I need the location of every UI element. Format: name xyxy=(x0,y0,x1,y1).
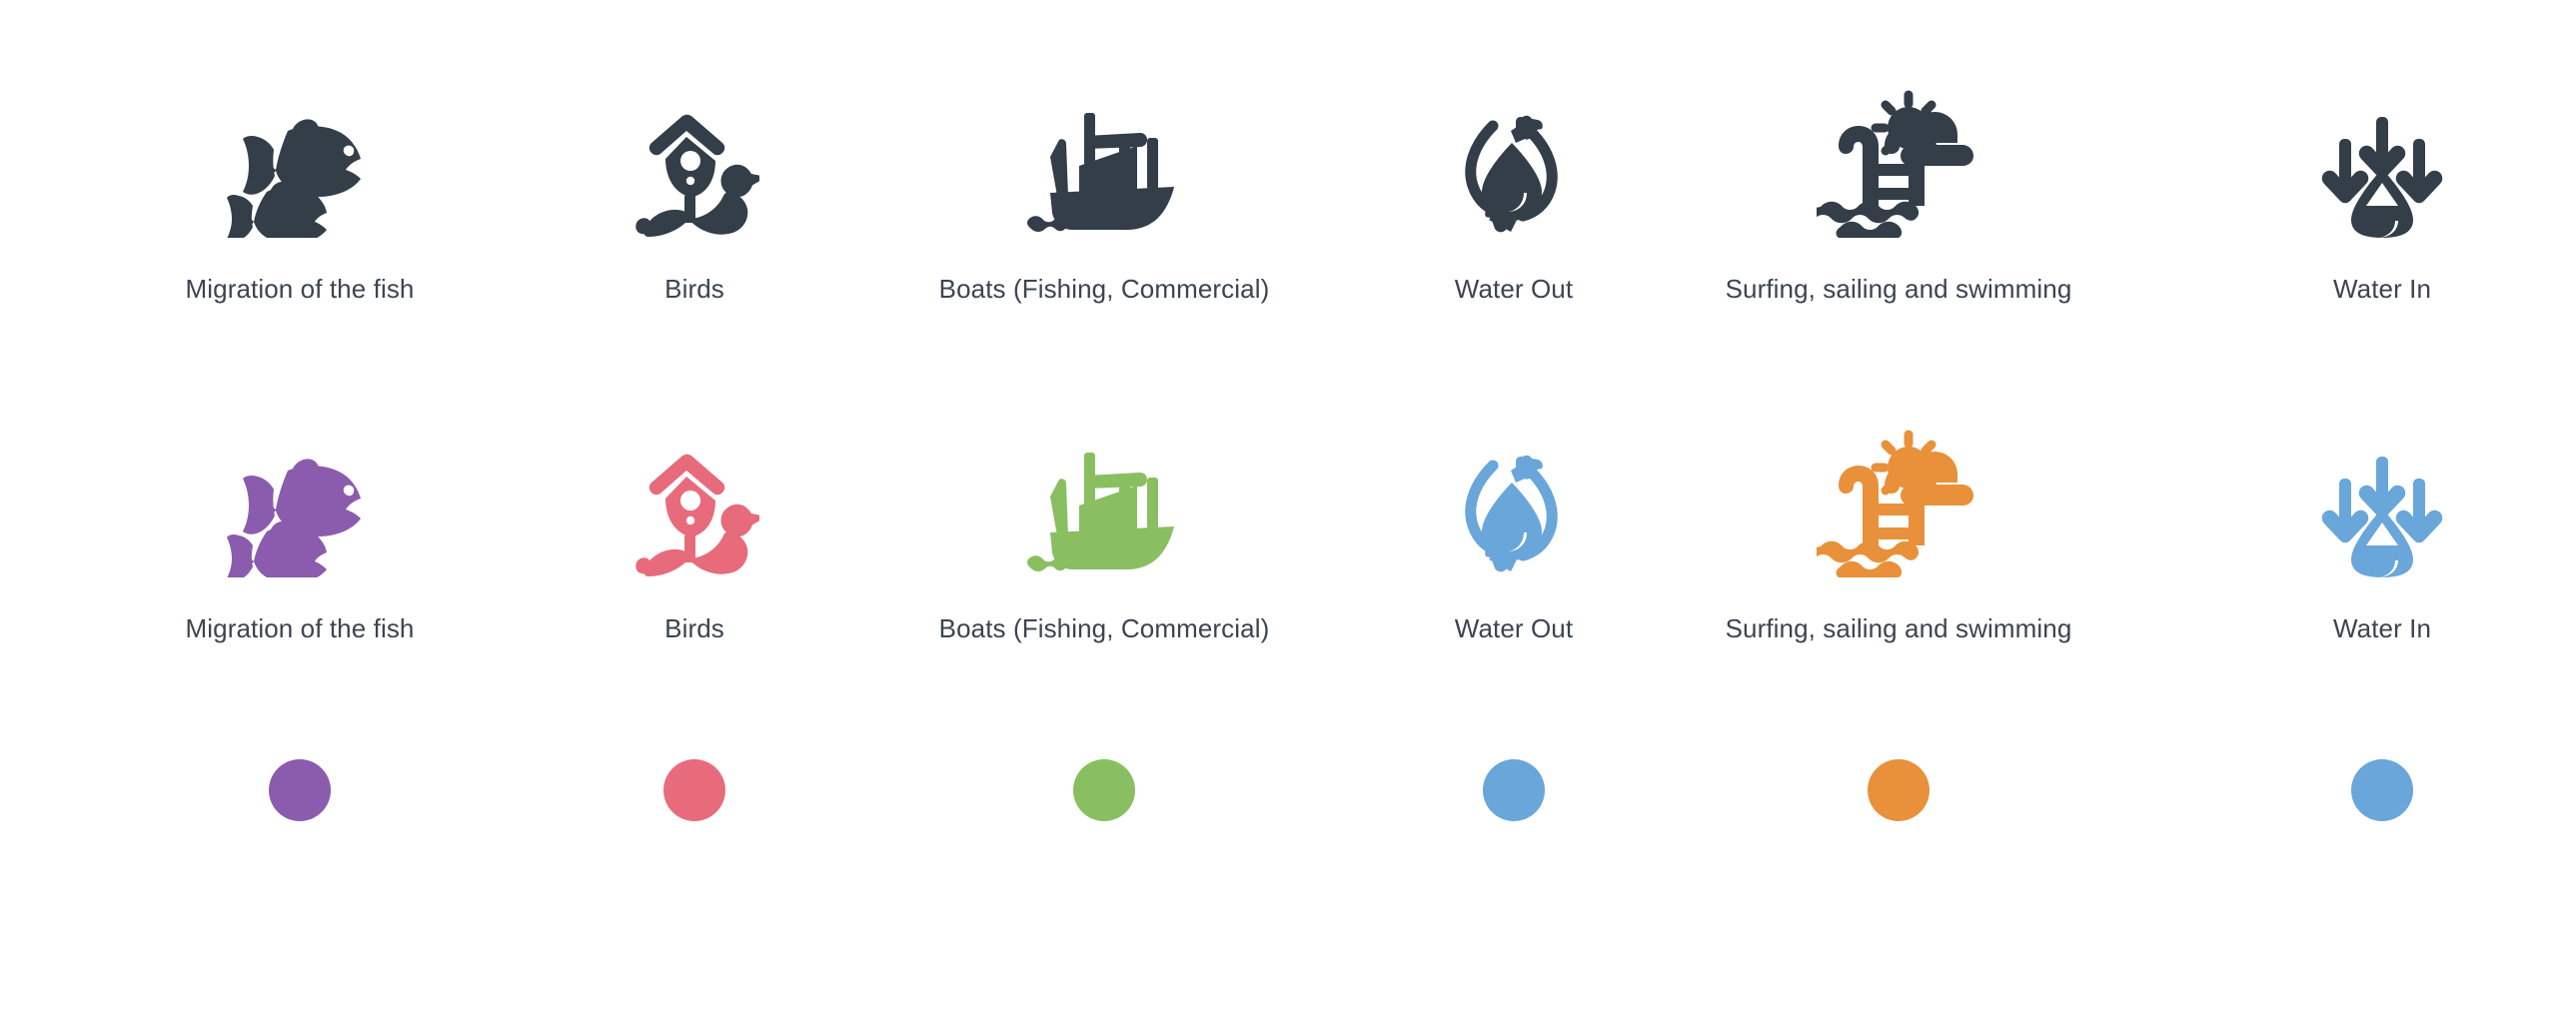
colour-swatch-row xyxy=(0,759,2576,821)
icon-cell-birds-dark[interactable]: Birds xyxy=(600,88,789,304)
swatch-cell-coral-red[interactable] xyxy=(600,759,789,821)
icon-label: Migration of the fish xyxy=(186,274,415,304)
fish-icon xyxy=(225,428,375,577)
icon-label: Boats (Fishing, Commercial) xyxy=(939,274,1270,304)
icon-cell-surfing-colour[interactable]: Surfing, sailing and swimming xyxy=(1609,428,2188,643)
water-in-icon xyxy=(2320,88,2445,238)
icon-label: Migration of the fish xyxy=(186,613,415,643)
icon-cell-boats-dark[interactable]: Boats (Fishing, Commercial) xyxy=(789,88,1419,304)
colour-icon-row: Migration of the fish xyxy=(0,428,2576,643)
icon-cell-fish-colour[interactable]: Migration of the fish xyxy=(0,428,600,643)
icon-label: Surfing, sailing and swimming xyxy=(1726,613,2072,643)
icon-cell-fish-dark[interactable]: Migration of the fish xyxy=(0,88,600,304)
icon-label: Surfing, sailing and swimming xyxy=(1726,274,2072,304)
icon-label: Water In xyxy=(2333,274,2431,304)
icon-label: Boats (Fishing, Commercial) xyxy=(939,613,1270,643)
icon-cell-water-in-colour[interactable]: Water In xyxy=(2188,428,2576,643)
icon-cell-water-out-dark[interactable]: Water Out xyxy=(1419,88,1609,304)
swatch-cell-blue-2[interactable] xyxy=(2188,759,2576,821)
water-out-icon xyxy=(1459,88,1569,238)
icon-label: Water Out xyxy=(1455,613,1573,643)
fishing-boat-icon xyxy=(1024,428,1184,577)
swatch-cell-green[interactable] xyxy=(789,759,1419,821)
fishing-boat-icon xyxy=(1024,88,1184,238)
water-in-icon xyxy=(2320,428,2445,577)
colour-swatch[interactable] xyxy=(1868,759,1930,821)
icon-cell-boats-colour[interactable]: Boats (Fishing, Commercial) xyxy=(789,428,1419,643)
icon-cell-water-out-colour[interactable]: Water Out xyxy=(1419,428,1609,643)
swatch-cell-blue[interactable] xyxy=(1419,759,1609,821)
colour-swatch[interactable] xyxy=(1073,759,1135,821)
water-out-icon xyxy=(1459,428,1569,577)
colour-swatch[interactable] xyxy=(1483,759,1545,821)
icon-legend-sheet: Migration of the fish xyxy=(0,0,2576,1033)
icon-cell-birds-colour[interactable]: Birds xyxy=(600,428,789,643)
icon-label: Water Out xyxy=(1455,274,1573,304)
colour-swatch[interactable] xyxy=(663,759,725,821)
fish-icon xyxy=(225,88,375,238)
icon-label: Birds xyxy=(664,613,724,643)
icon-cell-surfing-dark[interactable]: Surfing, sailing and swimming xyxy=(1609,88,2188,304)
birdhouse-bird-icon xyxy=(630,428,759,577)
swatch-cell-purple[interactable] xyxy=(0,759,600,821)
icon-cell-water-in-dark[interactable]: Water In xyxy=(2188,88,2576,304)
icon-label: Water In xyxy=(2333,613,2431,643)
icon-label: Birds xyxy=(664,274,724,304)
birdhouse-bird-icon xyxy=(630,88,759,238)
colour-swatch[interactable] xyxy=(2351,759,2413,821)
monochrome-icon-row: Migration of the fish xyxy=(0,88,2576,304)
pool-sun-icon xyxy=(1817,88,1981,238)
pool-sun-icon xyxy=(1817,428,1981,577)
swatch-cell-orange[interactable] xyxy=(1609,759,2188,821)
colour-swatch[interactable] xyxy=(269,759,331,821)
